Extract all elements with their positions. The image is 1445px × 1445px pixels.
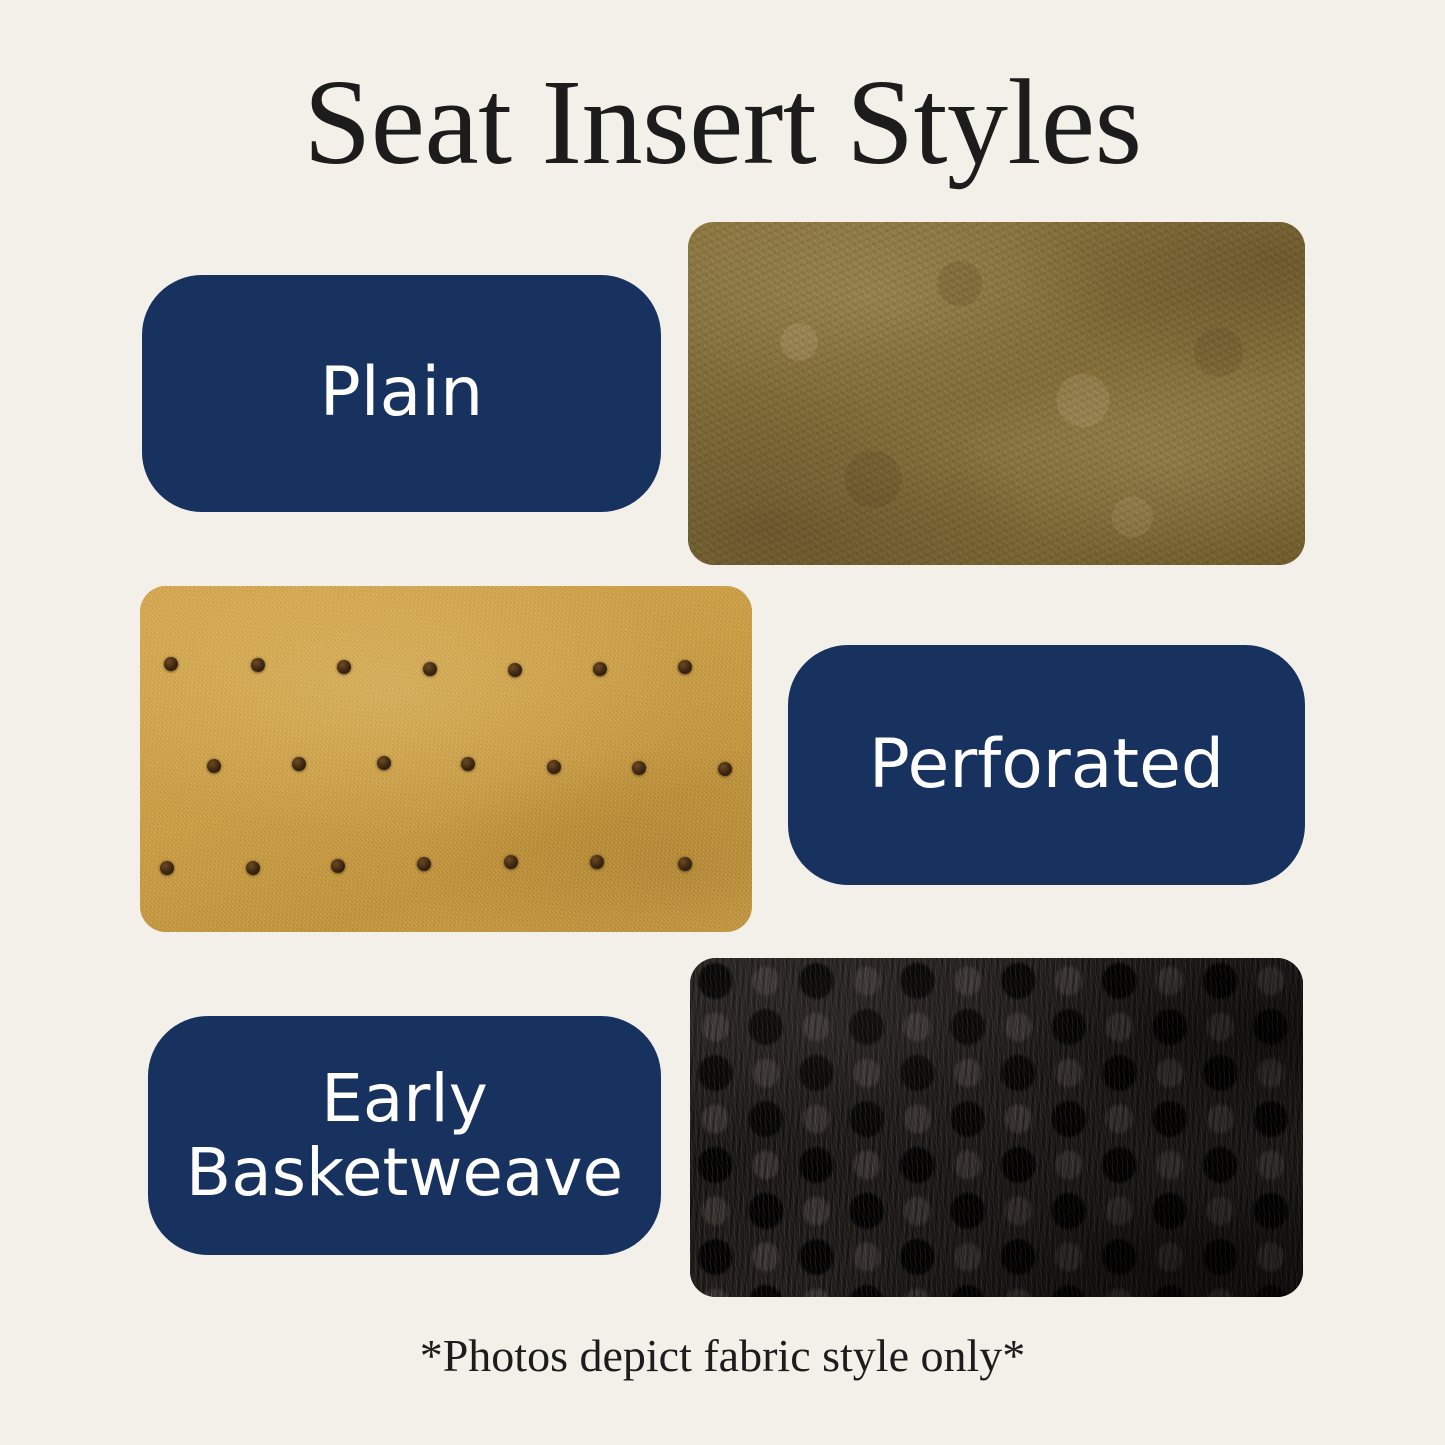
perforation-dot [164,657,178,671]
perforation-dot [160,861,174,875]
basketweave-swatch [690,958,1303,1297]
perforation-dot [590,855,604,869]
perforation-dot [331,859,345,873]
perforation-dot [423,662,437,676]
perforation-dot [207,759,221,773]
footnote-disclaimer: *Photos depict fabric style only* [0,1329,1445,1382]
style-label-perforated-text: Perforated [869,727,1224,803]
perforation-dot [508,663,522,677]
perforation-dot [718,762,732,776]
style-label-plain-text: Plain [320,355,484,431]
perforation-dot [678,857,692,871]
perforation-dot [417,857,431,871]
perforation-dot [377,756,391,770]
perforation-dot [632,761,646,775]
perforation-dot [593,662,607,676]
perforation-dot [461,757,475,771]
page-title: Seat Insert Styles [0,62,1445,184]
perforation-dot [246,861,260,875]
style-label-plain[interactable]: Plain [142,275,661,512]
perforation-dot [292,757,306,771]
perforation-dot [504,855,518,869]
plain-leather-swatch [688,222,1305,565]
perforation-dot [251,658,265,672]
perforation-dot [547,760,561,774]
perforation-dot [678,660,692,674]
style-label-early-basketweave-text: Early Basketweave [186,1062,623,1210]
poster-canvas: Seat Insert Styles Plain Perforated Earl… [0,0,1445,1445]
style-label-early-basketweave[interactable]: Early Basketweave [148,1016,661,1255]
perforation-holes [140,586,752,932]
style-label-perforated[interactable]: Perforated [788,645,1305,885]
plain-swatch-grain [688,222,1305,565]
perforated-leather-swatch [140,586,752,932]
basketweave-shading [690,958,1303,1297]
perforation-dot [337,660,351,674]
